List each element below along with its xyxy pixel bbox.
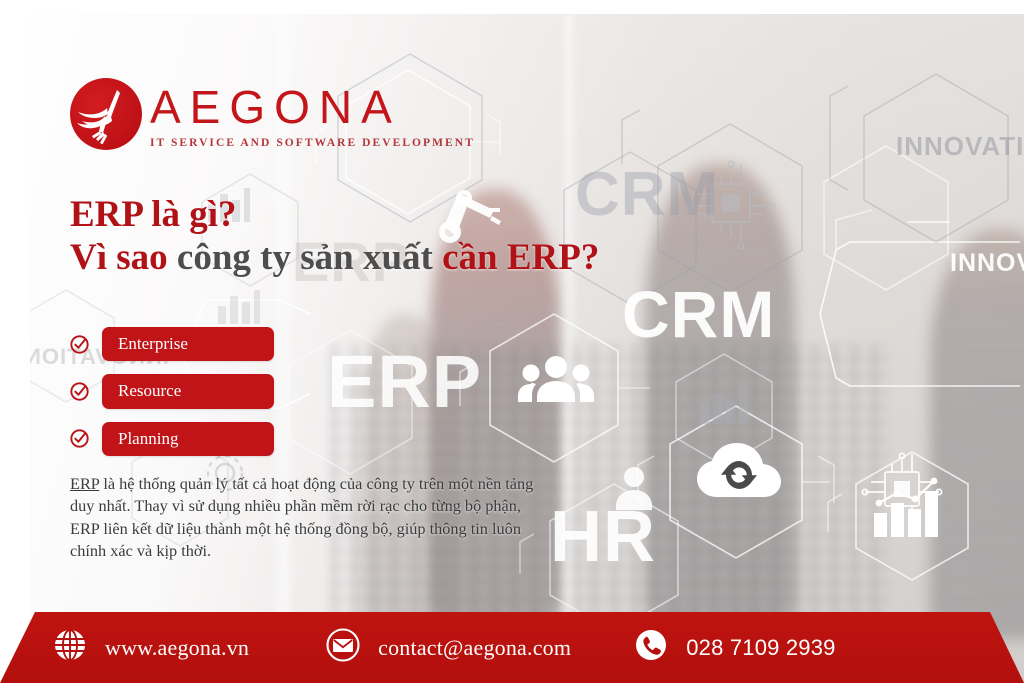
headline-line-2: Vì sao công ty sản xuất cần ERP? — [70, 236, 670, 279]
watermark-hr-large: HR — [550, 496, 656, 578]
paragraph-lead-term: ERP — [70, 474, 99, 493]
footer-phone-text[interactable]: 028 7109 2939 — [686, 635, 835, 661]
headline-line1-text: ERP là gì? — [70, 194, 237, 235]
glass-reflection — [560, 14, 578, 683]
check-circle-icon — [70, 382, 89, 401]
brand-name: AEGONA — [150, 84, 475, 130]
watermark-innovation-faint: INNOVATION — [896, 131, 1024, 162]
watermark-innovation-bright: INNOVATION — [950, 249, 1024, 278]
person-silhouette — [930, 229, 1024, 639]
globe-icon — [52, 627, 88, 668]
check-circle-icon — [70, 335, 89, 354]
list-item[interactable]: Planning — [70, 422, 274, 456]
footer-email[interactable]: contact@aegona.com — [325, 627, 571, 668]
check-circle-icon — [70, 429, 89, 448]
crane-bird-logo-icon — [70, 78, 142, 150]
footer-email-text[interactable]: contact@aegona.com — [378, 635, 571, 661]
contact-footer-bar: www.aegona.vn contact@aegona.com — [0, 612, 1024, 683]
erp-marketing-banner: ERP CRM ERP CRM HR INNOVATION INNOVATION… — [0, 0, 1024, 683]
headline-line2-part3: cần ERP? — [442, 237, 599, 278]
footer-website[interactable]: www.aegona.vn — [52, 627, 249, 668]
brand-logo: AEGONA IT SERVICE AND SOFTWARE DEVELOPME… — [70, 78, 475, 150]
headline-line2-part2: công ty sản xuất — [177, 237, 442, 278]
watermark-crm-large: CRM — [622, 276, 775, 352]
pill-label-planning[interactable]: Planning — [102, 422, 274, 456]
bar-chart-icon — [216, 286, 262, 326]
headline-line-1: ERP là gì? — [70, 193, 670, 236]
pill-label-enterprise[interactable]: Enterprise — [102, 327, 274, 361]
headline: ERP là gì? Vì sao công ty sản xuất cần E… — [70, 193, 670, 280]
watermark-erp-large: ERP — [327, 339, 482, 424]
pill-label-resource[interactable]: Resource — [102, 374, 274, 408]
feature-pill-list: Enterprise Resource Planning — [70, 327, 274, 469]
envelope-icon — [325, 627, 361, 668]
phone-icon — [633, 627, 669, 668]
headline-line2-part1: Vì sao — [70, 237, 177, 278]
brand-tagline: IT SERVICE AND SOFTWARE DEVELOPMENT — [150, 137, 475, 149]
description-paragraph: ERP là hệ thống quản lý tất cả hoạt động… — [70, 473, 540, 562]
list-item[interactable]: Enterprise — [70, 327, 274, 361]
paragraph-body: là hệ thống quản lý tất cả hoạt động của… — [70, 474, 533, 560]
list-item[interactable]: Resource — [70, 374, 274, 408]
footer-website-text[interactable]: www.aegona.vn — [105, 635, 249, 661]
footer-phone[interactable]: 028 7109 2939 — [633, 627, 835, 668]
